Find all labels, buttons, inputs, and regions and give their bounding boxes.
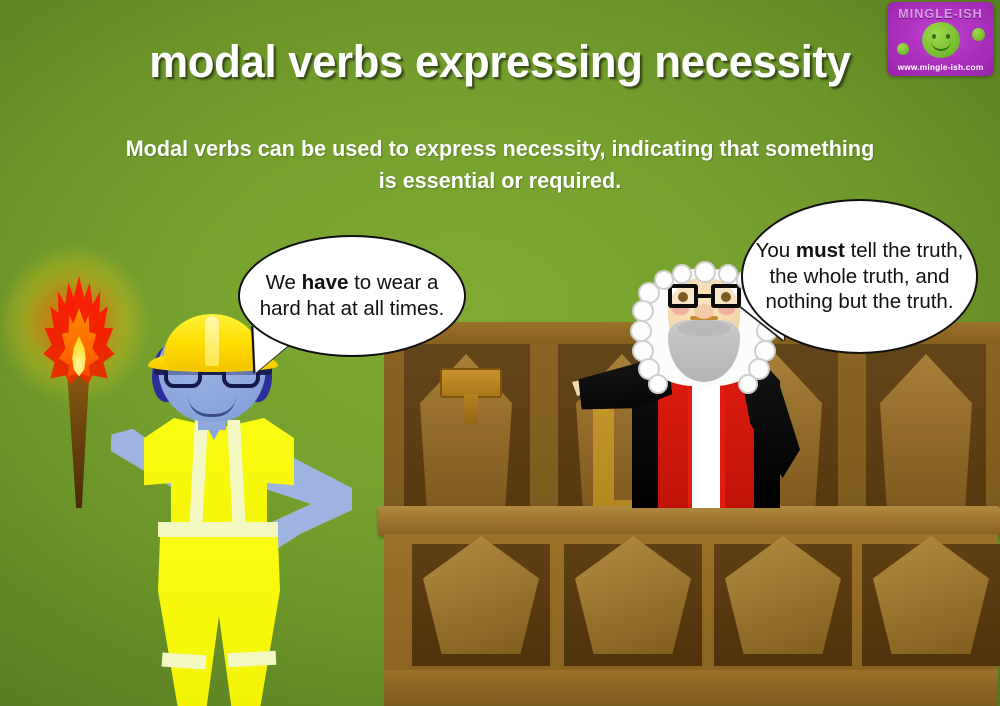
wig-curl bbox=[648, 374, 668, 394]
wig-curl bbox=[718, 264, 738, 284]
judge-mustache bbox=[678, 320, 730, 336]
judge-glasses-bridge bbox=[697, 294, 713, 298]
wig-curl bbox=[694, 261, 716, 283]
brand-name: MINGLE-ISH bbox=[887, 7, 994, 21]
brand-url: www.mingle-ish.com bbox=[887, 62, 994, 72]
gavel-shaft bbox=[464, 394, 478, 424]
worker-reflective-stripe bbox=[158, 522, 278, 537]
wig-curl bbox=[630, 320, 652, 342]
speech-bubble-judge-text: You must tell the truth, the whole truth… bbox=[743, 238, 976, 315]
brand-logo[interactable]: MINGLE-ISH www.mingle-ish.com bbox=[887, 2, 994, 76]
wig-curl bbox=[654, 270, 674, 290]
speech-bubble-worker-text: We have to wear a hard hat at all times. bbox=[240, 270, 464, 322]
construction-worker-figure bbox=[96, 300, 336, 706]
worker-reflective-stripe bbox=[162, 652, 207, 669]
logo-dot-icon bbox=[972, 28, 985, 41]
bench-ledge bbox=[378, 506, 1000, 536]
worker-hi-vis-shirt bbox=[144, 418, 294, 530]
modal-verb: have bbox=[302, 271, 349, 294]
page-subtitle: Modal verbs can be used to express neces… bbox=[126, 133, 875, 197]
smiley-face-icon bbox=[922, 22, 960, 58]
worker-trousers bbox=[158, 526, 280, 706]
worker-reflective-stripe bbox=[228, 651, 277, 667]
judge-eye-right bbox=[721, 292, 731, 302]
wig-curl bbox=[738, 374, 758, 394]
smiley-mouth bbox=[931, 39, 951, 51]
poster-canvas: modal verbs expressing necessity Modal v… bbox=[0, 0, 1000, 706]
bench-base bbox=[384, 670, 998, 706]
logo-dot-icon bbox=[897, 43, 909, 55]
speech-bubble-judge: You must tell the truth, the whole truth… bbox=[741, 199, 978, 354]
judge-eye-left bbox=[678, 292, 688, 302]
wig-curl bbox=[632, 300, 654, 322]
bench-front bbox=[384, 534, 998, 676]
speech-bubble-worker: We have to wear a hard hat at all times. bbox=[238, 235, 466, 357]
modal-verb: must bbox=[796, 239, 845, 262]
hard-hat-ridge bbox=[205, 316, 219, 366]
page-title: modal verbs expressing necessity bbox=[15, 36, 985, 88]
wig-curl bbox=[672, 264, 692, 284]
